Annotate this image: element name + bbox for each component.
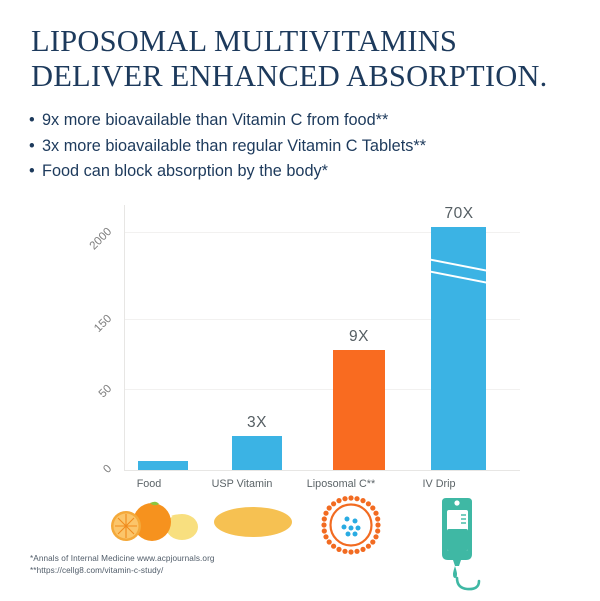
x-category-usp-vitamin: USP Vitamin — [200, 478, 284, 490]
infographic-page: LIPOSOMAL MULTIVITAMINS DELIVER ENHANCED… — [0, 0, 600, 600]
list-item: •9x more bioavailable than Vitamin C fro… — [29, 108, 579, 134]
bullet-marker-icon: • — [29, 108, 42, 134]
x-category-liposomal-c: Liposomal C** — [295, 478, 387, 490]
bar-chart: 2000 150 50 0 3X 9X 70X Food USP Vitamin… — [0, 200, 600, 500]
footnote-source-2[interactable]: **https://cellg8.com/vitamin-c-study/ — [30, 565, 215, 577]
y-tick-label-2000: 2000 — [62, 226, 114, 278]
bullet-marker-icon: • — [29, 134, 42, 160]
fruit-icon — [110, 500, 206, 549]
list-item: •3x more bioavailable than regular Vitam… — [29, 134, 579, 160]
footnote-block: *Annals of Internal Medicine www.acpjour… — [30, 553, 215, 577]
bar-iv-drip[interactable] — [431, 227, 486, 470]
bullet-text: Food can block absorption by the body* — [42, 162, 328, 180]
footnote-source-1: *Annals of Internal Medicine www.acpjour… — [30, 553, 215, 565]
bar-food[interactable] — [138, 461, 188, 470]
bar-value-usp-vitamin: 3X — [222, 414, 292, 432]
bar-value-iv-drip: 70X — [424, 205, 494, 223]
fruit-icon-svg — [110, 500, 206, 544]
axis-break-line — [431, 258, 486, 273]
page-title: LIPOSOMAL MULTIVITAMINS DELIVER ENHANCED… — [31, 24, 576, 94]
iv-drip-icon — [428, 496, 498, 601]
axis-break-line — [431, 270, 486, 285]
page-title-line-2: DELIVER ENHANCED ABSORPTION. — [31, 59, 576, 94]
x-axis-line — [124, 470, 520, 471]
bar-usp-vitamin[interactable] — [232, 436, 282, 470]
list-item: •Food can block absorption by the body* — [29, 159, 579, 185]
icon-row — [0, 494, 600, 594]
y-tick-label-150: 150 — [69, 313, 114, 358]
bar-liposomal-c[interactable] — [333, 350, 385, 470]
y-tick-label-50: 50 — [76, 383, 114, 421]
x-category-iv-drip: IV Drip — [398, 478, 480, 490]
liposome-icon — [320, 494, 382, 561]
bullet-text: 3x more bioavailable than regular Vitami… — [42, 137, 426, 155]
bullet-text: 9x more bioavailable than Vitamin C from… — [42, 111, 388, 129]
bars-container: 3X 9X 70X — [124, 205, 520, 470]
bullet-marker-icon: • — [29, 159, 42, 185]
liposome-icon-svg — [320, 494, 382, 556]
tablet-icon — [212, 505, 294, 544]
iv-drip-icon-svg — [428, 496, 498, 596]
bar-value-liposomal-c: 9X — [324, 328, 394, 346]
tablet-icon-svg — [212, 505, 294, 539]
x-category-food: Food — [108, 478, 190, 490]
page-title-line-1: LIPOSOMAL MULTIVITAMINS — [31, 24, 576, 59]
bullet-list: •9x more bioavailable than Vitamin C fro… — [29, 108, 579, 185]
